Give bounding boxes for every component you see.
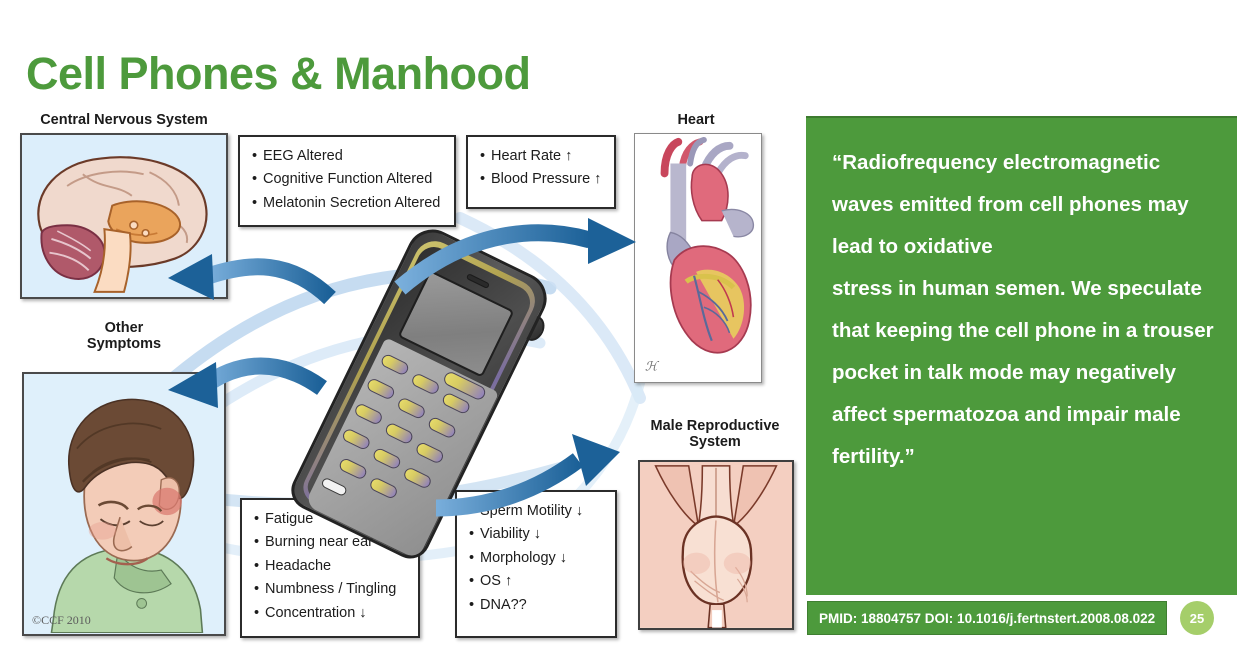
textbox-heart: Heart Rate ↑ Blood Pressure ↑ [466,135,616,209]
phone-key-7 [353,402,384,426]
list-item: Viability ↓ [469,523,605,546]
phone-key-2 [410,372,441,396]
heart-symptom-list: Heart Rate ↑ Blood Pressure ↑ [480,145,604,192]
phone-key-star [341,427,372,451]
heart-illustration: ℋ [635,134,761,380]
citation-text: PMID: 18804757 DOI: 10.1016/j.fertnstert… [819,611,1155,626]
panel-label-male-reproductive-system-text: Male Reproductive System [651,418,780,450]
list-item: Blood Pressure ↑ [480,168,604,191]
panel-label-other-symptoms-text: Other Symptoms [87,320,161,352]
scrotum-illustration-panel [638,460,794,630]
phone-speaker [466,273,490,289]
phone-key-5 [396,396,427,420]
list-item: EEG Altered [252,145,444,168]
cns-symptom-list: EEG Altered Cognitive Function Altered M… [252,145,444,215]
quote-text: “Radiofrequency electromagnetic waves em… [832,142,1220,478]
phone-mic [320,477,348,497]
list-item: Morphology ↓ [469,547,605,570]
textbox-central-nervous-system: EEG Altered Cognitive Function Altered M… [238,135,456,227]
heart-illustration-panel: ℋ [634,133,762,383]
man-headache-illustration [24,374,224,633]
panel-label-other-symptoms: Other Symptoms [36,320,212,352]
phone-key-hash [402,466,433,490]
panel-label-central-nervous-system: Central Nervous System [18,112,230,128]
list-item: OS ↑ [469,570,605,593]
man-headache-illustration-panel: ©CCF 2010 [22,372,226,636]
citation-bar: PMID: 18804757 DOI: 10.1016/j.fertnstert… [807,601,1167,635]
phone-key-6 [427,416,458,440]
quote-panel: “Radiofrequency electromagnetic waves em… [806,116,1237,595]
panel-label-male-reproductive-system: Male Reproductive System [630,418,800,450]
list-item: Heart Rate ↑ [480,145,604,168]
panel-label-heart: Heart [636,112,756,128]
slide-root: Cell Phones & Manhood Central Nervous Sy… [0,0,1237,645]
phone-key-8 [384,421,415,445]
brain-illustration-panel [20,133,228,299]
phone-key-0 [371,447,402,471]
phone-key-9 [414,441,445,465]
list-item: Numbness / Tingling [254,578,408,601]
list-item: Cognitive Function Altered [252,168,444,191]
list-item: Headache [254,555,408,578]
list-item: Melatonin Secretion Altered [252,192,444,215]
phone-key-extra-1 [338,457,369,481]
diagram-region: Central Nervous System [0,108,800,645]
male-symptom-list: Sperm Motility ↓ Viability ↓ Morphology … [469,500,605,617]
page-title: Cell Phones & Manhood [26,48,531,100]
brain-illustration [22,135,226,298]
slide-number-badge: 25 [1180,601,1214,635]
list-item: DNA?? [469,594,605,617]
phone-key-1 [379,353,410,377]
list-item: Sperm Motility ↓ [469,500,605,523]
copyright-credit: ©CCF 2010 [32,613,91,628]
textbox-male-reproductive: Sperm Motility ↓ Viability ↓ Morphology … [455,490,617,638]
phone-key-extra-2 [368,476,399,500]
scrotum-illustration [640,462,792,628]
list-item: Concentration ↓ [254,602,408,625]
phone-key-4 [365,377,396,401]
